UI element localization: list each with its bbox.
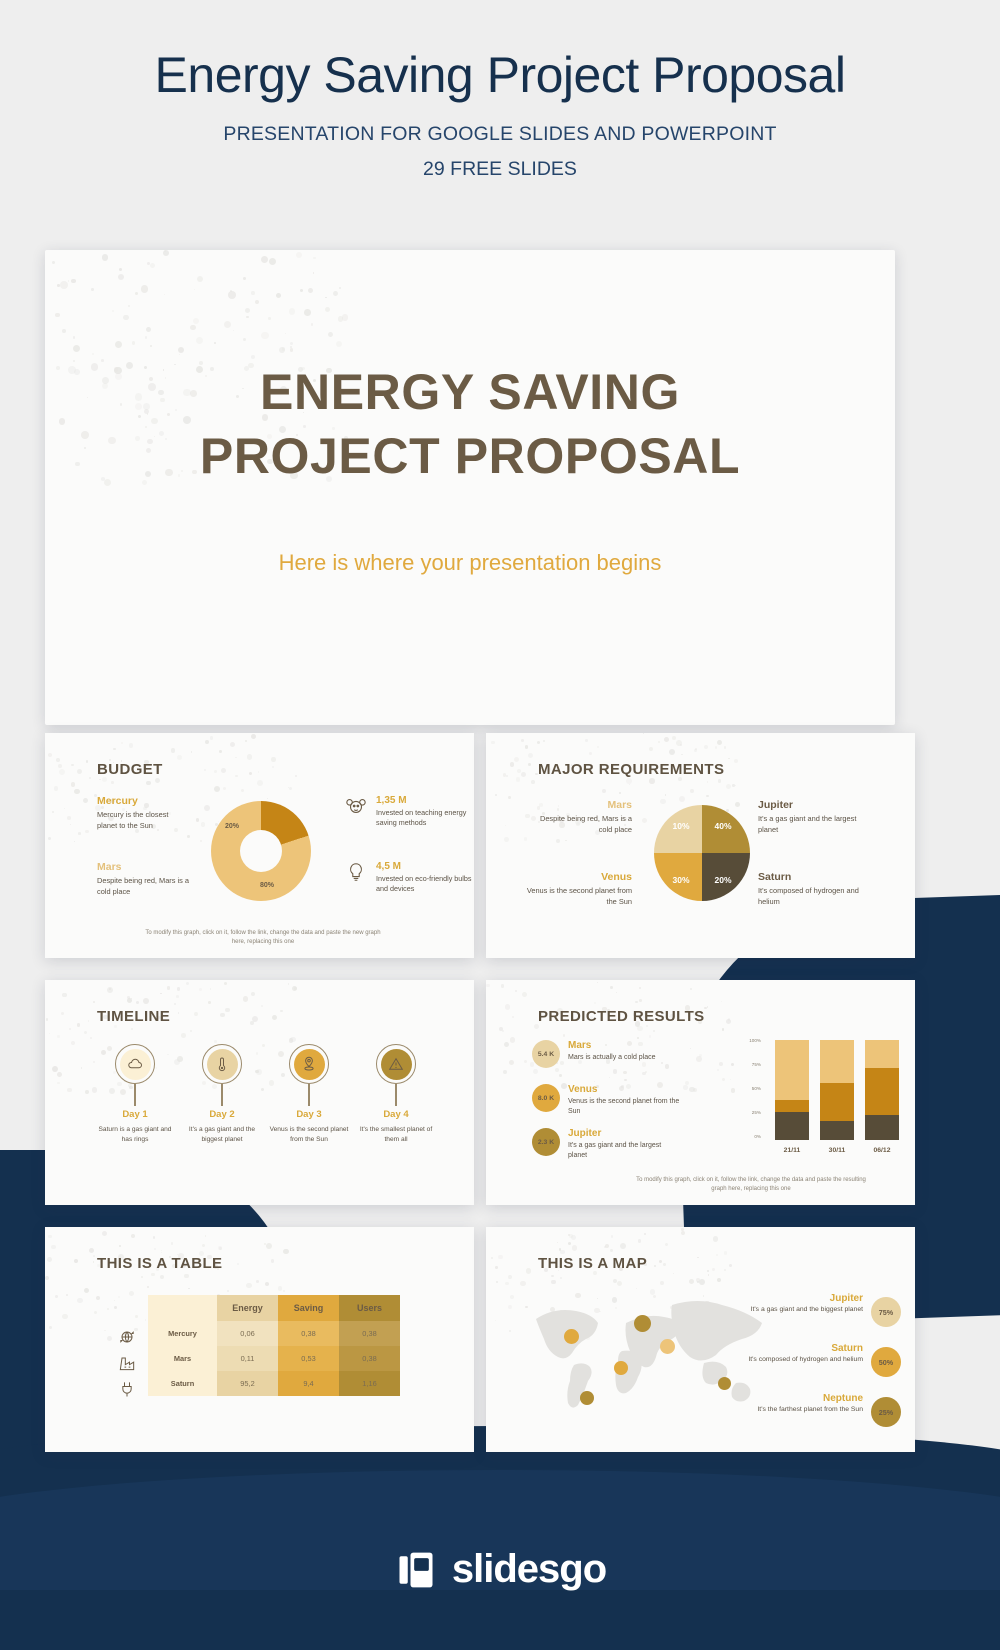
requirements-pie-chart: 10% 40% 30% 20% [654, 805, 750, 901]
ytick: 100% [749, 1038, 761, 1043]
legend-desc: It's composed of hydrogen and helium [745, 1355, 863, 1365]
requirements-title: MAJOR REQUIREMENTS [538, 761, 724, 778]
legend-name: Jupiter [745, 1293, 863, 1304]
table-cell: 95,2 [217, 1371, 278, 1396]
predicted-name: Mars [568, 1040, 680, 1051]
map-marker[interactable] [614, 1361, 628, 1375]
slide-preview-requirements[interactable]: MAJOR REQUIREMENTS Mars Despite being re… [486, 733, 915, 958]
predicted-bubble: 8.0 K [532, 1084, 560, 1112]
slice-label: 10% [672, 821, 689, 831]
map-legend-neptune: Neptune It's the farthest planet from th… [745, 1393, 863, 1415]
plug-icon [117, 1379, 137, 1399]
requirements-legend-mars: Mars Despite being red, Mars is a cold p… [526, 799, 632, 835]
bar-segment-venus [865, 1068, 899, 1115]
budget-legend-mercury: Mercury Mercury is the closest planet to… [97, 795, 189, 831]
timeline-marker [115, 1044, 155, 1084]
timeline-item-1: Day 1 Saturn is a gas giant and has ring… [87, 1044, 183, 1144]
table-cell: 0,06 [217, 1321, 278, 1346]
thermometer-icon [213, 1055, 231, 1073]
map-marker[interactable] [634, 1315, 651, 1332]
ytick: 25% [752, 1110, 761, 1115]
slice-label: 20% [714, 875, 731, 885]
slide-preview-timeline[interactable]: TIMELINE Day 1 Saturn is a gas giant and… [45, 980, 474, 1205]
timeline-marker [289, 1044, 329, 1084]
slide-preview-predicted-results[interactable]: PREDICTED RESULTS 5.4 K Mars Mars is act… [486, 980, 915, 1205]
table-cell: 9,4 [278, 1371, 339, 1396]
bar-category-label: 30/11 [820, 1147, 854, 1154]
predicted-desc: Venus is the second planet from the Sun [568, 1097, 680, 1117]
slide-preview-budget[interactable]: BUDGET Mercury Mercury is the closest pl… [45, 733, 474, 958]
page-subtitle: PRESENTATION FOR GOOGLE SLIDES AND POWER… [0, 123, 1000, 146]
table-cell: 0,38 [278, 1321, 339, 1346]
legend-desc: Despite being red, Mars is a cold place [526, 814, 632, 835]
legend-desc: Venus is the second planet from the Sun [526, 886, 632, 907]
budget-stat-bulbs: 4,5 M Invested on eco-friendly bulbs and… [345, 861, 474, 894]
pie-slice-mars: 10% [654, 805, 702, 853]
budget-title: BUDGET [97, 761, 163, 778]
slide-row-3: THIS IS A TABLE Energy Saving Users Merc… [45, 1227, 955, 1452]
map-marker[interactable] [564, 1329, 579, 1344]
donut-label-20: 20% [225, 823, 239, 830]
slide-count: 29 FREE SLIDES [0, 158, 1000, 181]
table-cell: 0,38 [339, 1346, 400, 1371]
bar-segment-mars [820, 1040, 854, 1083]
bar-stack-1 [775, 1040, 809, 1140]
ytick: 50% [752, 1086, 761, 1091]
bar-segment-venus [820, 1083, 854, 1121]
timeline-desc: It's the smallest planet of them all [348, 1125, 444, 1144]
recycle-globe-icon [117, 1327, 137, 1347]
table-row: Saturn 95,2 9,4 1,16 [148, 1371, 400, 1396]
predicted-title: PREDICTED RESULTS [538, 1008, 705, 1025]
donut-label-80: 80% [260, 882, 274, 889]
table-row: Mercury 0,06 0,38 0,38 [148, 1321, 400, 1346]
predicted-name: Venus [568, 1084, 680, 1095]
timeline-item-4: Day 4 It's the smallest planet of them a… [348, 1044, 444, 1144]
bar-segment-venus [775, 1100, 809, 1112]
table-row-label: Saturn [148, 1371, 217, 1396]
slide-row-1: BUDGET Mercury Mercury is the closest pl… [45, 733, 955, 958]
bar-chart-y-axis: 100% 75% 50% 25% 0% [741, 1038, 763, 1140]
legend-desc: Despite being red, Mars is a cold place [97, 876, 189, 897]
cloud-icon [126, 1055, 144, 1073]
stat-value: 1,35 M [376, 795, 474, 806]
table-header-energy: Energy [217, 1295, 278, 1321]
predicted-bar-chart: 100% 75% 50% 25% 0% 21/11 [741, 1038, 891, 1158]
timeline-day: Day 2 [174, 1109, 270, 1120]
legend-desc: It's a gas giant and the largest planet [758, 814, 868, 835]
slidesgo-wordmark: slidesgo [452, 1547, 606, 1592]
hero-title: ENERGY SAVING PROJECT PROPOSAL [45, 360, 895, 488]
bar-segment-mars [775, 1040, 809, 1100]
budget-graph-note: To modify this graph, click on it, follo… [143, 929, 383, 946]
legend-name: Jupiter [758, 799, 868, 811]
bar-category-label: 06/12 [865, 1147, 899, 1154]
table-header-row: Energy Saving Users [148, 1295, 400, 1321]
location-pin-icon [300, 1055, 318, 1073]
predicted-bubble: 5.4 K [532, 1040, 560, 1068]
stat-value: 4,5 M [376, 861, 474, 872]
budget-donut-chart: 20% 80% [211, 801, 311, 901]
slidesgo-logo-icon [394, 1548, 438, 1592]
slide-preview-table[interactable]: THIS IS A TABLE Energy Saving Users Merc… [45, 1227, 474, 1452]
hero-subtitle: Here is where your presentation begins [45, 550, 895, 576]
data-table: Energy Saving Users Mercury 0,06 0,38 0,… [148, 1295, 400, 1396]
timeline-item-2: Day 2 It's a gas giant and the biggest p… [174, 1044, 270, 1144]
table-title: THIS IS A TABLE [97, 1255, 222, 1272]
bar-segment-mars [865, 1040, 899, 1068]
slice-label: 30% [672, 875, 689, 885]
predicted-bubble: 2.3 K [532, 1128, 560, 1156]
timeline-stem [221, 1084, 222, 1106]
table-header-saving: Saving [278, 1295, 339, 1321]
legend-name: Mars [97, 861, 189, 873]
map-title: THIS IS A MAP [538, 1255, 647, 1272]
pie-slice-jupiter: 40% [702, 805, 750, 853]
requirements-legend-saturn: Saturn It's composed of hydrogen and hel… [758, 871, 868, 907]
timeline-marker [376, 1044, 416, 1084]
timeline-title: TIMELINE [97, 1008, 170, 1025]
timeline-day: Day 3 [261, 1109, 357, 1120]
ytick: 0% [754, 1134, 761, 1139]
requirements-legend-jupiter: Jupiter It's a gas giant and the largest… [758, 799, 868, 835]
table-cell: 0,11 [217, 1346, 278, 1371]
predicted-desc: Mars is actually a cold place [568, 1053, 680, 1063]
map-pct-jupiter: 75% [871, 1297, 901, 1327]
footer-branding[interactable]: slidesgo [0, 1547, 1000, 1592]
legend-name: Saturn [745, 1343, 863, 1354]
slide-preview-title[interactable]: ENERGY SAVING PROJECT PROPOSAL Here is w… [45, 250, 895, 725]
table-cell: 0,38 [339, 1321, 400, 1346]
timeline-marker [202, 1044, 242, 1084]
world-map-graphic [522, 1289, 772, 1419]
map-pct-neptune: 25% [871, 1397, 901, 1427]
timeline-desc: It's a gas giant and the biggest planet [174, 1125, 270, 1144]
timeline-stem [395, 1084, 396, 1106]
timeline-day: Day 1 [87, 1109, 183, 1120]
predicted-item-jupiter: 2.3 K Jupiter It's a gas giant and the l… [532, 1128, 680, 1161]
requirements-legend-venus: Venus Venus is the second planet from th… [526, 871, 632, 907]
table-header-users: Users [339, 1295, 400, 1321]
table-corner-cell [148, 1295, 217, 1321]
predicted-desc: It's a gas giant and the largest planet [568, 1141, 680, 1161]
ytick: 75% [752, 1062, 761, 1067]
bar-stack-2 [820, 1040, 854, 1140]
map-pct-saturn: 50% [871, 1347, 901, 1377]
timeline-day: Day 4 [348, 1109, 444, 1120]
pie-slice-saturn: 20% [702, 853, 750, 901]
map-marker[interactable] [718, 1377, 731, 1390]
predicted-item-venus: 8.0 K Venus Venus is the second planet f… [532, 1084, 680, 1117]
slide-row-2: TIMELINE Day 1 Saturn is a gas giant and… [45, 980, 955, 1205]
bar-segment-jupiter [820, 1121, 854, 1140]
predicted-item-mars: 5.4 K Mars Mars is actually a cold place [532, 1040, 680, 1068]
timeline-stem [308, 1084, 309, 1106]
legend-desc: Mercury is the closest planet to the Sun [97, 810, 189, 831]
map-marker[interactable] [580, 1391, 594, 1405]
predicted-name: Jupiter [568, 1128, 680, 1139]
legend-name: Mercury [97, 795, 189, 807]
timeline-desc: Venus is the second planet from the Sun [261, 1125, 357, 1144]
table-row-label: Mars [148, 1346, 217, 1371]
timeline-stem [134, 1084, 135, 1106]
factory-icon [117, 1353, 137, 1373]
world-map [522, 1289, 772, 1419]
bar-segment-jupiter [865, 1115, 899, 1140]
person-icon [345, 795, 367, 817]
legend-name: Saturn [758, 871, 868, 883]
page-title: Energy Saving Project Proposal [0, 48, 1000, 103]
warning-icon [387, 1055, 405, 1073]
budget-legend-mars: Mars Despite being red, Mars is a cold p… [97, 861, 189, 897]
table-row: Mars 0,11 0,53 0,38 [148, 1346, 400, 1371]
bar-segment-jupiter [775, 1112, 809, 1140]
table-cell: 1,16 [339, 1371, 400, 1396]
slice-label: 40% [714, 821, 731, 831]
timeline-item-3: Day 3 Venus is the second planet from th… [261, 1044, 357, 1144]
legend-name: Mars [526, 799, 632, 811]
legend-desc: It's composed of hydrogen and helium [758, 886, 868, 907]
bar-category-label: 21/11 [775, 1147, 809, 1154]
budget-stat-teaching: 1,35 M Invested on teaching energy savin… [345, 795, 474, 828]
timeline-desc: Saturn is a gas giant and has rings [87, 1125, 183, 1144]
predicted-graph-note: To modify this graph, click on it, follo… [636, 1176, 866, 1193]
slide-preview-map[interactable]: THIS IS A MAP Jupiter [486, 1227, 915, 1452]
stat-desc: Invested on teaching energy saving metho… [376, 808, 474, 828]
bar-stack-3 [865, 1040, 899, 1140]
legend-name: Venus [526, 871, 632, 883]
map-legend-jupiter: Jupiter It's a gas giant and the biggest… [745, 1293, 863, 1315]
page-header: Energy Saving Project Proposal PRESENTAT… [0, 0, 1000, 181]
map-marker[interactable] [660, 1339, 675, 1354]
legend-desc: It's the farthest planet from the Sun [745, 1405, 863, 1415]
table-row-label: Mercury [148, 1321, 217, 1346]
stat-desc: Invested on eco-friendly bulbs and devic… [376, 874, 474, 894]
table-cell: 0,53 [278, 1346, 339, 1371]
pie-slice-venus: 30% [654, 853, 702, 901]
legend-name: Neptune [745, 1393, 863, 1404]
legend-desc: It's a gas giant and the biggest planet [745, 1305, 863, 1315]
map-legend-saturn: Saturn It's composed of hydrogen and hel… [745, 1343, 863, 1365]
lightbulb-icon [345, 861, 367, 883]
